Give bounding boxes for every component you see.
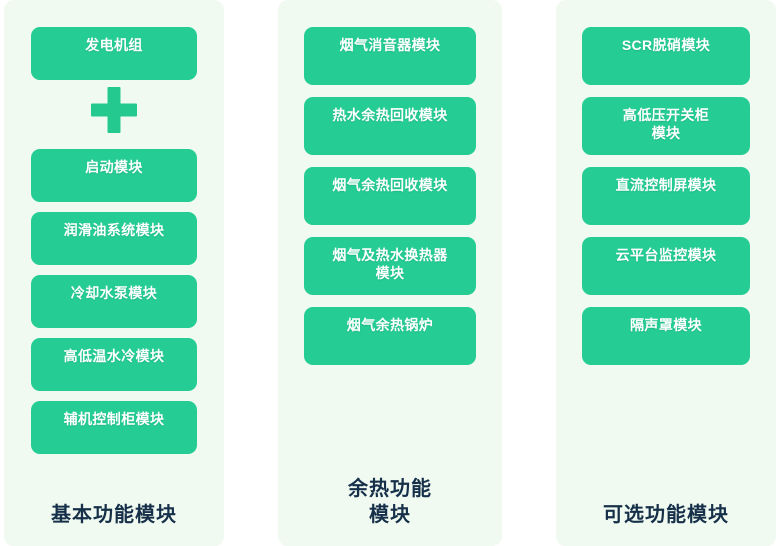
module-card-label: 辅机控制柜模块 [64,410,165,428]
module-card-subcaption [582,68,750,80]
column-footer-label-waste-heat: 余热功能 模块 [278,476,502,546]
module-card[interactable]: 高低压开关柜 模块 [582,97,750,155]
module-card-subcaption [582,348,750,360]
module-card[interactable]: 辅机控制柜模块 [31,401,197,454]
module-card-subcaption [304,208,476,220]
module-card-label: 热水余热回收模块 [332,106,447,124]
module-card-subcaption [31,63,197,75]
module-card-subcaption [31,311,197,323]
module-card-subcaption [304,68,476,80]
module-card[interactable]: SCR脱硝模块 [582,27,750,85]
plus-separator [4,87,224,133]
module-card-label: 发电机组 [85,36,143,54]
module-card[interactable]: 云平台监控模块 [582,237,750,295]
module-card-list: 发电机组启动模块润滑油系统模块冷却水泵模块高低温水冷模块辅机控制柜模块 [4,0,224,502]
module-card[interactable]: 高低温水冷模块 [31,338,197,391]
module-card-label: 高低温水冷模块 [64,347,165,365]
module-card[interactable]: 烟气余热回收模块 [304,167,476,225]
module-column-basic: 发电机组启动模块润滑油系统模块冷却水泵模块高低温水冷模块辅机控制柜模块基本功能模… [4,0,224,546]
module-card-subcaption [31,437,197,449]
module-card[interactable]: 启动模块 [31,149,197,202]
module-card-label: 烟气余热回收模块 [332,176,447,194]
module-card-subcaption [31,185,197,197]
module-card-subcaption [31,248,197,260]
module-card[interactable]: 发电机组 [31,27,197,80]
plus-icon [91,87,137,133]
module-card-label: 云平台监控模块 [616,246,717,264]
module-card-label: 直流控制屏模块 [616,176,717,194]
module-card-subcaption [304,138,476,150]
module-card[interactable]: 冷却水泵模块 [31,275,197,328]
module-card[interactable]: 烟气及热水换热器 模块 [304,237,476,295]
module-card-list: SCR脱硝模块高低压开关柜 模块直流控制屏模块云平台监控模块隔声罩模块 [556,0,776,502]
module-card[interactable]: 直流控制屏模块 [582,167,750,225]
module-card-label: SCR脱硝模块 [622,36,710,54]
column-footer-label-basic: 基本功能模块 [4,502,224,546]
module-card-label: 冷却水泵模块 [71,284,157,302]
module-card-label: 高低压开关柜 模块 [623,106,709,142]
module-column-waste-heat: 烟气消音器模块热水余热回收模块烟气余热回收模块烟气及热水换热器 模块烟气余热锅炉… [278,0,502,546]
module-card-label: 隔声罩模块 [630,316,702,334]
module-card[interactable]: 隔声罩模块 [582,307,750,365]
module-card[interactable]: 热水余热回收模块 [304,97,476,155]
module-card-label: 启动模块 [85,158,143,176]
module-column-optional: SCR脱硝模块高低压开关柜 模块直流控制屏模块云平台监控模块隔声罩模块可选功能模… [556,0,776,546]
module-card-subcaption [304,348,476,360]
module-overview-board: 发电机组启动模块润滑油系统模块冷却水泵模块高低温水冷模块辅机控制柜模块基本功能模… [0,0,781,546]
module-card-subcaption [31,374,197,386]
module-card[interactable]: 烟气消音器模块 [304,27,476,85]
module-card-list: 烟气消音器模块热水余热回收模块烟气余热回收模块烟气及热水换热器 模块烟气余热锅炉 [278,0,502,476]
column-footer-label-optional: 可选功能模块 [556,502,776,546]
module-card-label: 烟气及热水换热器 模块 [332,246,447,282]
module-card-subcaption [582,278,750,290]
module-card[interactable]: 润滑油系统模块 [31,212,197,265]
module-card[interactable]: 烟气余热锅炉 [304,307,476,365]
module-card-label: 烟气消音器模块 [340,36,441,54]
module-card-label: 烟气余热锅炉 [347,316,433,334]
module-card-subcaption [582,208,750,220]
module-card-label: 润滑油系统模块 [64,221,165,239]
